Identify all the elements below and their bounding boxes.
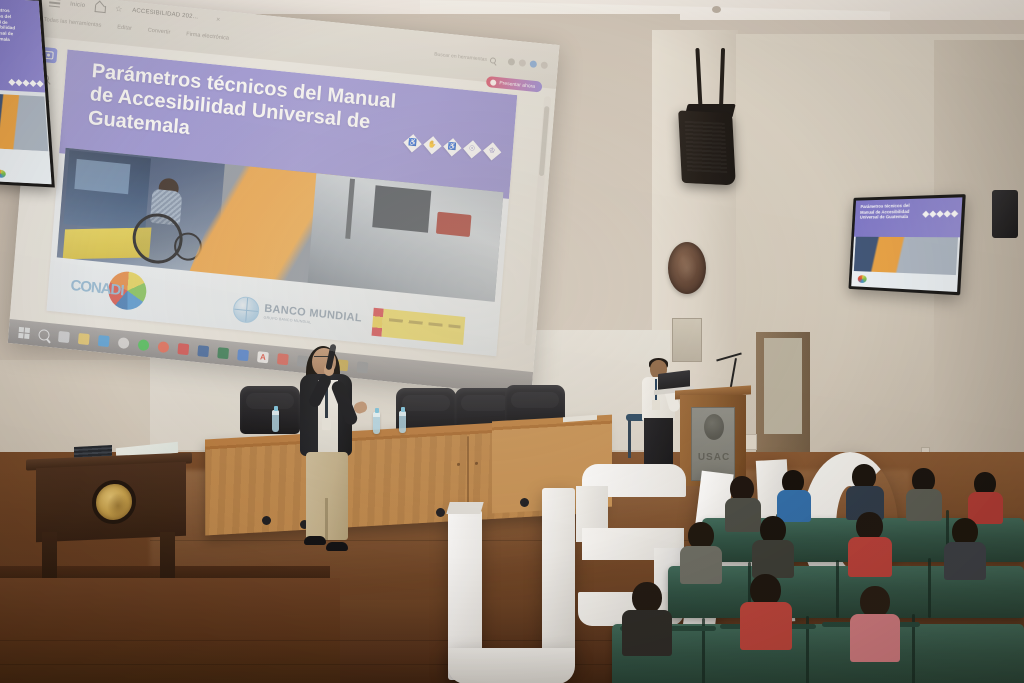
- door-glass: [764, 338, 802, 434]
- tv-right: Parámetros técnicos del Manual de Accesi…: [848, 194, 965, 295]
- globe-icon: [232, 296, 260, 325]
- id-badge: [652, 400, 660, 410]
- avatar: [541, 61, 549, 69]
- audience-seating: [560, 470, 1024, 683]
- wall-socket: [745, 434, 757, 450]
- excel-icon[interactable]: [217, 347, 229, 359]
- hamburger-icon[interactable]: [49, 0, 61, 8]
- conadi-logo: CONADI: [69, 265, 150, 315]
- water-bottle: [399, 411, 406, 433]
- task-view-icon[interactable]: [58, 330, 70, 342]
- home-icon[interactable]: [95, 2, 106, 13]
- avatar: [530, 60, 538, 68]
- wall-emblem: [668, 242, 706, 294]
- settings-icon[interactable]: [118, 337, 130, 349]
- wall-speaker-icon: [992, 190, 1018, 238]
- chair-caster: [262, 516, 271, 525]
- ceiling-light: [712, 6, 721, 13]
- menu-item-edit[interactable]: Editar: [117, 24, 132, 31]
- present-label: Presentar ahora: [499, 80, 535, 90]
- menu-item-all-tools[interactable]: Todas las herramientas: [44, 17, 102, 29]
- trousers: [306, 452, 348, 540]
- tv-left-headline: Parámetros técnicos del Manual de Accesi…: [0, 7, 23, 43]
- auditorium-scene: Inicio ☆ ACCESIBILIDAD 202... × Todas la…: [0, 0, 1024, 683]
- close-icon[interactable]: ×: [216, 16, 221, 23]
- star-icon[interactable]: ☆: [115, 5, 123, 14]
- presenter: [298, 340, 378, 560]
- mail-icon[interactable]: [98, 335, 110, 347]
- whatsapp-icon[interactable]: [138, 339, 150, 351]
- banco-mundial-logo: BANCO MUNDIAL GRUPO BANCO MUNDIAL: [232, 296, 362, 335]
- menu-item-esign[interactable]: Firma electrónica: [186, 31, 229, 41]
- lectern: [30, 456, 188, 574]
- search-input[interactable]: Buscar en herramientas: [434, 51, 496, 63]
- word-icon[interactable]: [197, 345, 209, 357]
- menu-item-convert[interactable]: Convertir: [148, 27, 171, 35]
- id-badge: [322, 418, 331, 430]
- avatar: [519, 59, 527, 67]
- photo-street-scene: [307, 173, 503, 304]
- powerpoint-icon[interactable]: [237, 349, 249, 361]
- pdf-reader-icon[interactable]: [177, 343, 189, 355]
- file-explorer-icon[interactable]: [78, 332, 90, 344]
- wall-plaque: [672, 318, 702, 362]
- browser-tab[interactable]: ACCESIBILIDAD 202...: [132, 8, 199, 21]
- seat-row: [612, 624, 1024, 683]
- water-bottle: [272, 410, 279, 432]
- taskbar-search-icon[interactable]: [38, 328, 50, 340]
- present-icon: [490, 79, 496, 86]
- search-icon: [490, 57, 496, 64]
- search-placeholder: Buscar en herramientas: [434, 51, 487, 62]
- avatar: [508, 58, 516, 66]
- usac-seal-icon: [704, 414, 724, 440]
- menu-label[interactable]: Inicio: [70, 2, 86, 10]
- ceiling-speaker-icon: [678, 110, 736, 185]
- chrome-icon[interactable]: [158, 341, 170, 353]
- acrobat-icon[interactable]: A: [257, 351, 269, 363]
- tv-right-headline: Parámetros técnicos del Manual de Accesi…: [860, 202, 925, 220]
- presentation-slide[interactable]: Parámetros técnicos del Manual de Accesi…: [46, 49, 517, 356]
- cooperacion-espanola-logo: [372, 308, 466, 345]
- teams-icon[interactable]: [277, 353, 289, 365]
- shoe: [304, 536, 326, 545]
- executive-chair: [240, 386, 300, 434]
- stage-front-panel: [0, 578, 340, 683]
- shoe: [326, 542, 348, 551]
- windows-start-icon[interactable]: [18, 326, 30, 338]
- projection-screen: Inicio ☆ ACCESIBILIDAD 202... × Todas la…: [8, 0, 560, 396]
